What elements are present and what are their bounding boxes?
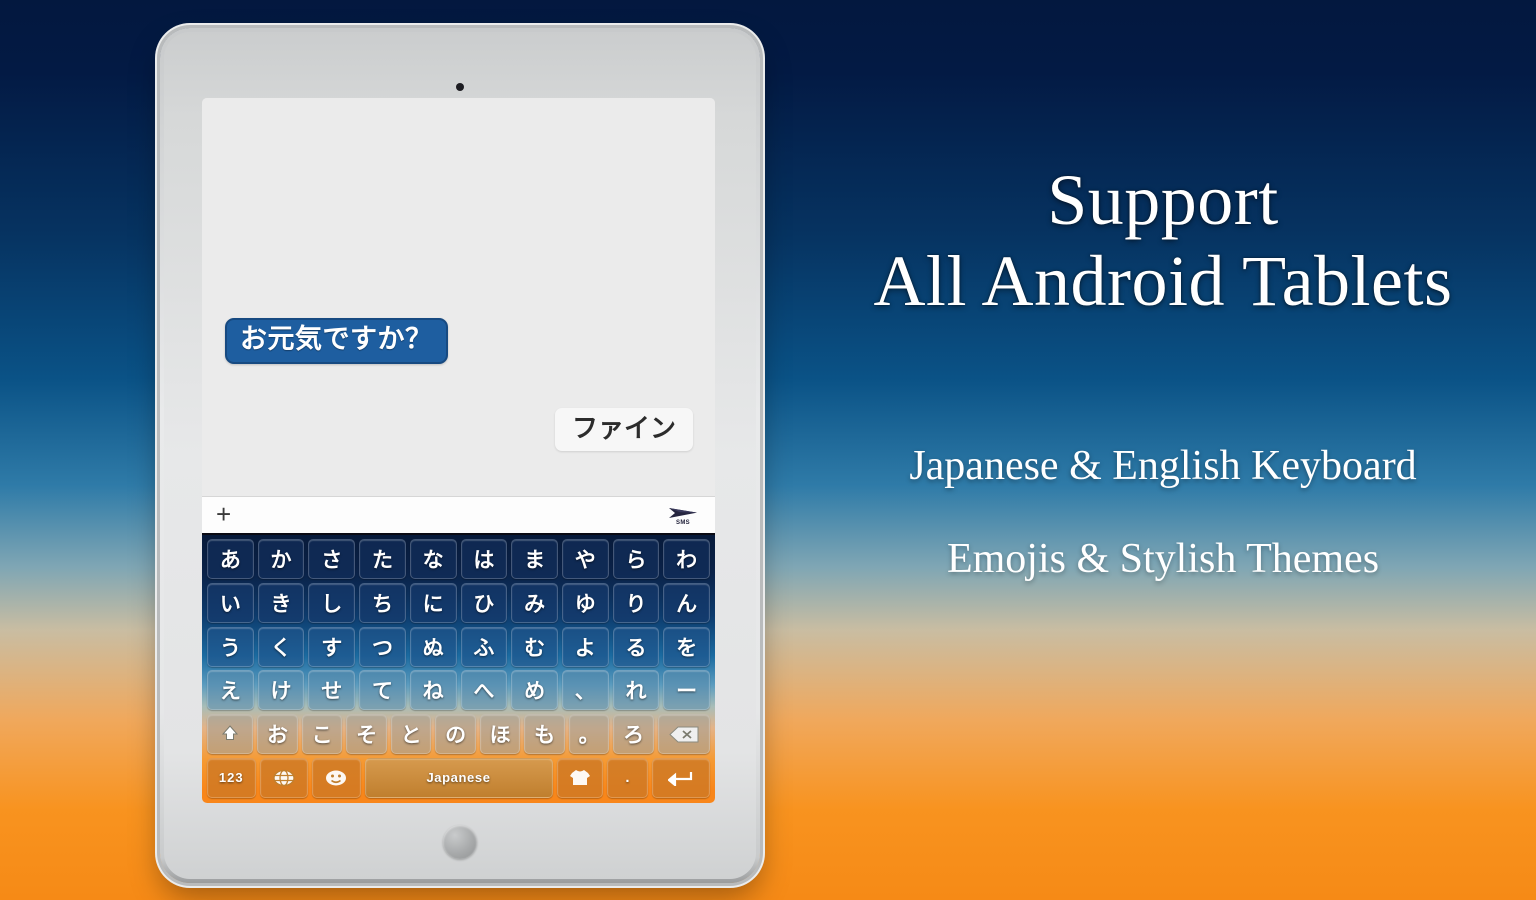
key-re[interactable]: れ bbox=[613, 670, 660, 710]
key-wa[interactable]: わ bbox=[663, 539, 710, 579]
message-text-input[interactable] bbox=[231, 507, 661, 524]
key-ya[interactable]: や bbox=[562, 539, 609, 579]
key-yo[interactable]: よ bbox=[562, 627, 609, 667]
space-key[interactable]: Japanese bbox=[365, 758, 553, 798]
key-te[interactable]: て bbox=[359, 670, 406, 710]
key-ni[interactable]: に bbox=[410, 583, 457, 623]
key-ri[interactable]: り bbox=[613, 583, 660, 623]
key-no[interactable]: の bbox=[435, 714, 476, 754]
key-ko[interactable]: こ bbox=[302, 714, 343, 754]
key-hi[interactable]: ひ bbox=[461, 583, 508, 623]
key-ku[interactable]: く bbox=[258, 627, 305, 667]
key-ro[interactable]: ろ bbox=[613, 714, 654, 754]
keyboard-row-6: 123 Japa bbox=[207, 758, 710, 798]
key-o[interactable]: お bbox=[257, 714, 298, 754]
key-chi[interactable]: ち bbox=[359, 583, 406, 623]
key-sa[interactable]: さ bbox=[308, 539, 355, 579]
key-se[interactable]: せ bbox=[308, 670, 355, 710]
key-to[interactable]: と bbox=[391, 714, 432, 754]
key-fu[interactable]: ふ bbox=[461, 627, 508, 667]
key-na[interactable]: な bbox=[410, 539, 457, 579]
key-wo[interactable]: を bbox=[663, 627, 710, 667]
key-ma[interactable]: ま bbox=[511, 539, 558, 579]
key-nu[interactable]: ぬ bbox=[410, 627, 457, 667]
plus-icon[interactable]: + bbox=[216, 501, 231, 527]
send-sms-label: SMS bbox=[676, 520, 690, 526]
home-button[interactable] bbox=[443, 825, 477, 859]
key-ra[interactable]: ら bbox=[613, 539, 660, 579]
emoji-smiley-icon bbox=[325, 769, 347, 787]
key-a[interactable]: あ bbox=[207, 539, 254, 579]
keyboard-row-4: え け せ て ね へ め 、 れ ー bbox=[207, 670, 710, 710]
backspace-icon[interactable] bbox=[658, 714, 710, 754]
key-n[interactable]: ん bbox=[663, 583, 710, 623]
key-mu[interactable]: む bbox=[511, 627, 558, 667]
message-input-bar: + SMS bbox=[202, 496, 715, 535]
promo-panel: Support All Android Tablets Japanese & E… bbox=[790, 0, 1536, 900]
tshirt-glyph-icon bbox=[569, 769, 591, 786]
key-e[interactable]: え bbox=[207, 670, 254, 710]
paper-plane-icon bbox=[668, 505, 698, 521]
shift-icon[interactable] bbox=[207, 714, 253, 754]
key-ho[interactable]: ほ bbox=[480, 714, 521, 754]
key-maru[interactable]: 。 bbox=[569, 714, 610, 754]
emoji-icon[interactable] bbox=[312, 758, 361, 798]
key-he[interactable]: へ bbox=[461, 670, 508, 710]
keyboard-row-5: お こ そ と の ほ も 。 ろ bbox=[207, 714, 710, 754]
key-su[interactable]: す bbox=[308, 627, 355, 667]
key-u[interactable]: う bbox=[207, 627, 254, 667]
promo-headline: Support All Android Tablets bbox=[873, 160, 1452, 321]
enter-arrow-icon bbox=[668, 770, 694, 786]
key-ru[interactable]: る bbox=[613, 627, 660, 667]
key-ke[interactable]: け bbox=[258, 670, 305, 710]
key-ha[interactable]: は bbox=[461, 539, 508, 579]
chat-bubble-incoming[interactable]: お元気ですか？ bbox=[225, 318, 448, 364]
backspace-arrow-icon bbox=[669, 726, 699, 743]
keyboard-row-1: あ か さ た な は ま や ら わ bbox=[207, 539, 710, 579]
key-ka[interactable]: か bbox=[258, 539, 305, 579]
key-ki[interactable]: き bbox=[258, 583, 305, 623]
keyboard-row-3: う く す つ ぬ ふ む よ る を bbox=[207, 627, 710, 667]
key-yu[interactable]: ゆ bbox=[562, 583, 609, 623]
key-long-dash[interactable]: ー bbox=[663, 670, 710, 710]
onscreen-keyboard: あ か さ た な は ま や ら わ い き し ち に ひ み ゆ り bbox=[202, 535, 715, 803]
key-shi[interactable]: し bbox=[308, 583, 355, 623]
shift-arrow-icon bbox=[220, 724, 240, 744]
period-key[interactable]: . bbox=[607, 758, 649, 798]
android-tablet-device: お元気ですか？ ファイン + SMS あ か さ た な は bbox=[160, 28, 760, 883]
key-i[interactable]: い bbox=[207, 583, 254, 623]
theme-shirt-icon[interactable] bbox=[557, 758, 603, 798]
key-mi[interactable]: み bbox=[511, 583, 558, 623]
enter-icon[interactable] bbox=[652, 758, 710, 798]
key-ta[interactable]: た bbox=[359, 539, 406, 579]
key-mo[interactable]: も bbox=[524, 714, 565, 754]
sensor-dot-icon bbox=[456, 83, 464, 91]
promo-feature-2: Emojis & Stylish Themes bbox=[947, 534, 1379, 584]
promo-feature-1: Japanese & English Keyboard bbox=[909, 441, 1416, 491]
numbers-icon[interactable]: 123 bbox=[207, 758, 256, 798]
keyboard-row-2: い き し ち に ひ み ゆ り ん bbox=[207, 583, 710, 623]
globe-glyph-icon bbox=[273, 769, 295, 787]
promo-headline-line2: All Android Tablets bbox=[873, 241, 1452, 322]
promo-headline-line1: Support bbox=[873, 160, 1452, 241]
key-tsu[interactable]: つ bbox=[359, 627, 406, 667]
tablet-screen: お元気ですか？ ファイン + SMS あ か さ た な は bbox=[202, 98, 715, 803]
globe-icon[interactable] bbox=[260, 758, 309, 798]
key-ne[interactable]: ね bbox=[410, 670, 457, 710]
key-comma[interactable]: 、 bbox=[562, 670, 609, 710]
key-so[interactable]: そ bbox=[346, 714, 387, 754]
key-me[interactable]: め bbox=[511, 670, 558, 710]
send-sms-button[interactable]: SMS bbox=[661, 498, 705, 532]
chat-bubble-outgoing[interactable]: ファイン bbox=[555, 408, 693, 451]
chat-thread: お元気ですか？ ファイン bbox=[202, 98, 715, 496]
